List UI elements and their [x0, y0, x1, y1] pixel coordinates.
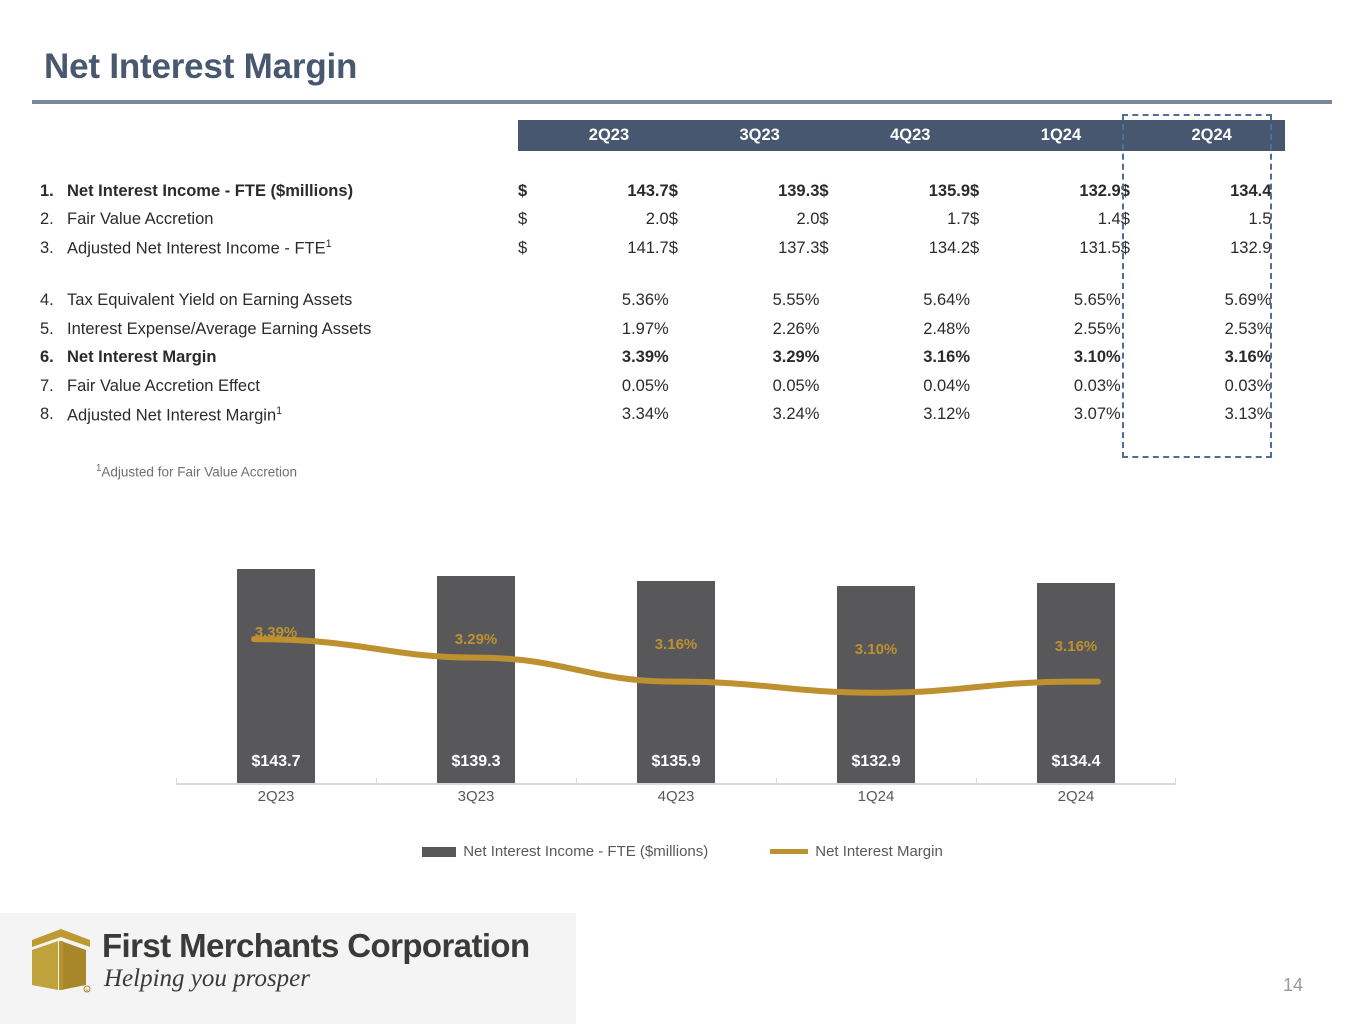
cell-1q24: 0.03%: [1001, 372, 1121, 401]
row-label: Interest Expense/Average Earning Assets: [67, 315, 518, 344]
chart-x-axis: [176, 783, 1176, 785]
cell-2q23: 141.7: [549, 234, 669, 263]
cell-2q23: 143.7: [549, 177, 669, 206]
row-number: 3.: [40, 234, 67, 263]
currency-symbol: $: [1121, 234, 1152, 263]
row-number: 8.: [40, 401, 67, 430]
row-number: 2.: [40, 206, 67, 235]
cell-3q23: 0.05%: [700, 372, 820, 401]
table-row: 6. Net Interest Margin 3.39% 3.29% 3.16%…: [40, 344, 1285, 373]
cell-3q23: 5.55%: [700, 287, 820, 316]
row-number: 5.: [40, 315, 67, 344]
cell-1q24: 5.65%: [1001, 287, 1121, 316]
header-spacer-dollar-2: [669, 120, 700, 151]
x-axis-tick: [976, 778, 977, 785]
company-name: First Merchants Corporation: [102, 929, 530, 964]
cell-1q24: 3.10%: [1001, 344, 1121, 373]
column-header-1q24: 1Q24: [1001, 120, 1121, 151]
cell-4q23: 135.9: [851, 177, 971, 206]
cell-2q23: 3.39%: [549, 344, 669, 373]
bar-percent-label: 3.29%: [437, 631, 515, 648]
table-footnote: 1Adjusted for Fair Value Accretion: [96, 463, 297, 480]
cell-4q23: 5.64%: [851, 287, 971, 316]
x-axis-label: 4Q23: [576, 788, 776, 805]
column-header-4q23: 4Q23: [851, 120, 971, 151]
currency-spacer: [819, 372, 850, 401]
currency-spacer: [819, 401, 850, 430]
cell-3q23: 137.3: [700, 234, 820, 263]
currency-symbol: $: [970, 234, 1001, 263]
financial-table-block: 2Q23 3Q23 4Q23 1Q24 2Q24 1. Net Interest…: [40, 120, 1300, 429]
currency-spacer: [819, 344, 850, 373]
table-row: 2. Fair Value Accretion $ 2.0 $ 2.0 $ 1.…: [40, 206, 1285, 235]
row-tail: [1271, 401, 1285, 430]
company-tagline: Helping you prosper: [104, 966, 530, 991]
currency-spacer: [669, 372, 700, 401]
title-divider: [32, 100, 1332, 104]
table-body: 1. Net Interest Income - FTE ($millions)…: [40, 151, 1285, 429]
header-spacer-num: [40, 120, 67, 151]
page-title: Net Interest Margin: [44, 47, 357, 87]
x-axis-tick: [1175, 778, 1176, 785]
currency-symbol: $: [669, 177, 700, 206]
bar-value-label: $135.9: [637, 753, 715, 771]
legend-item-net-interest-margin[interactable]: Net Interest Margin: [770, 843, 943, 860]
footnote-text: Adjusted for Fair Value Accretion: [101, 465, 297, 480]
bar-percent-label: 3.16%: [1037, 638, 1115, 655]
first-merchants-cube-icon: R: [30, 927, 92, 995]
cell-2q23: 5.36%: [549, 287, 669, 316]
row-number: 4.: [40, 287, 67, 316]
currency-spacer: [970, 315, 1001, 344]
row-tail: [1271, 344, 1285, 373]
row-tail: [1271, 234, 1285, 263]
legend-label: Net Interest Income - FTE ($millions): [463, 843, 708, 860]
currency-symbol: $: [819, 234, 850, 263]
currency-spacer: [819, 315, 850, 344]
cell-2q23: 2.0: [549, 206, 669, 235]
chart-bar: 3.16%$135.9: [637, 581, 715, 785]
cell-3q23: 139.3: [700, 177, 820, 206]
cell-4q23: 2.48%: [851, 315, 971, 344]
cell-1q24: 132.9: [1001, 177, 1121, 206]
column-header-3q23: 3Q23: [700, 120, 820, 151]
currency-symbol: $: [1121, 206, 1152, 235]
row-label: Adjusted Net Interest Income - FTE1: [67, 234, 518, 263]
x-axis-tick: [576, 778, 577, 785]
cell-4q23: 0.04%: [851, 372, 971, 401]
x-axis-tick: [776, 778, 777, 785]
chart-bar: 3.29%$139.3: [437, 576, 515, 785]
currency-symbol: $: [819, 177, 850, 206]
currency-spacer: [1121, 372, 1152, 401]
cell-2q23: 0.05%: [549, 372, 669, 401]
table-header-row: 2Q23 3Q23 4Q23 1Q24 2Q24: [40, 120, 1285, 151]
cell-2q24: 134.4: [1152, 177, 1272, 206]
bar-value-label: $139.3: [437, 753, 515, 771]
x-axis-label: 1Q24: [776, 788, 976, 805]
cell-1q24: 2.55%: [1001, 315, 1121, 344]
cell-4q23: 3.12%: [851, 401, 971, 430]
currency-symbol: $: [970, 206, 1001, 235]
legend-label: Net Interest Margin: [815, 843, 943, 860]
cell-2q23: 1.97%: [549, 315, 669, 344]
row-label: Tax Equivalent Yield on Earning Assets: [67, 287, 518, 316]
currency-spacer: [1121, 315, 1152, 344]
bar-percent-label: 3.39%: [237, 624, 315, 641]
row-tail: [1271, 287, 1285, 316]
table-row: 5. Interest Expense/Average Earning Asse…: [40, 315, 1285, 344]
nim-combo-chart: 3.39%$143.73.29%$139.33.16%$135.93.10%$1…: [176, 545, 1176, 785]
row-tail: [1271, 315, 1285, 344]
currency-symbol: $: [669, 206, 700, 235]
line-swatch-icon: [770, 849, 808, 854]
cell-2q24: 5.69%: [1152, 287, 1272, 316]
column-header-2q23: 2Q23: [549, 120, 669, 151]
cell-3q23: 2.26%: [700, 315, 820, 344]
cell-2q24: 3.16%: [1152, 344, 1272, 373]
bar-value-label: $132.9: [837, 753, 915, 771]
table-row: 1. Net Interest Income - FTE ($millions)…: [40, 177, 1285, 206]
header-spacer-label: [67, 120, 518, 151]
row-label: Net Interest Margin: [67, 344, 518, 373]
row-label: Net Interest Income - FTE ($millions): [67, 177, 518, 206]
currency-symbol: $: [518, 177, 549, 206]
currency-spacer: [970, 287, 1001, 316]
page-number: 14: [1283, 975, 1303, 996]
chart-bar: 3.10%$132.9: [837, 586, 915, 785]
cell-2q23: 3.34%: [549, 401, 669, 430]
table-row: 8. Adjusted Net Interest Margin1 3.34% 3…: [40, 401, 1285, 430]
cell-3q23: 3.29%: [700, 344, 820, 373]
currency-spacer: [970, 401, 1001, 430]
table-row: 3. Adjusted Net Interest Income - FTE1 $…: [40, 234, 1285, 263]
row-label: Adjusted Net Interest Margin1: [67, 401, 518, 430]
currency-spacer: [669, 315, 700, 344]
cell-4q23: 134.2: [851, 234, 971, 263]
bar-percent-label: 3.10%: [837, 641, 915, 658]
header-tail: [1271, 120, 1285, 151]
cell-1q24: 1.4: [1001, 206, 1121, 235]
currency-spacer: [970, 344, 1001, 373]
x-axis-label: 2Q23: [176, 788, 376, 805]
x-axis-tick: [376, 778, 377, 785]
cell-2q24: 1.5: [1152, 206, 1272, 235]
row-tail: [1271, 177, 1285, 206]
currency-spacer: [819, 287, 850, 316]
cell-2q24: 0.03%: [1152, 372, 1272, 401]
currency-symbol: $: [819, 206, 850, 235]
x-axis-label: 3Q23: [376, 788, 576, 805]
row-label: Fair Value Accretion: [67, 206, 518, 235]
row-number: 6.: [40, 344, 67, 373]
cell-1q24: 131.5: [1001, 234, 1121, 263]
currency-symbol: $: [1121, 177, 1152, 206]
currency-symbol: $: [518, 234, 549, 263]
table-row: 4. Tax Equivalent Yield on Earning Asset…: [40, 287, 1285, 316]
currency-spacer: [970, 372, 1001, 401]
header-spacer-dollar-3: [819, 120, 850, 151]
cell-4q23: 3.16%: [851, 344, 971, 373]
row-spacer-mid: [40, 263, 1285, 287]
cell-2q24: 3.13%: [1152, 401, 1272, 430]
cell-2q24: 2.53%: [1152, 315, 1272, 344]
chart-bar: 3.39%$143.7: [237, 569, 315, 785]
x-axis-tick: [176, 778, 177, 785]
currency-spacer: [518, 372, 549, 401]
bar-swatch-icon: [422, 847, 456, 857]
row-number: 1.: [40, 177, 67, 206]
row-spacer-top: [40, 151, 1285, 177]
currency-spacer: [669, 344, 700, 373]
currency-spacer: [1121, 401, 1152, 430]
footnote-marker: 1: [326, 238, 332, 250]
header-spacer-dollar-4: [970, 120, 1001, 151]
bar-percent-label: 3.16%: [637, 636, 715, 653]
currency-spacer: [518, 344, 549, 373]
currency-symbol: $: [669, 234, 700, 263]
currency-spacer: [669, 287, 700, 316]
row-tail: [1271, 206, 1285, 235]
column-header-2q24: 2Q24: [1152, 120, 1272, 151]
currency-spacer: [1121, 344, 1152, 373]
cell-1q24: 3.07%: [1001, 401, 1121, 430]
row-tail: [1271, 372, 1285, 401]
header-spacer-dollar-5: [1121, 120, 1152, 151]
currency-spacer: [518, 401, 549, 430]
cell-3q23: 3.24%: [700, 401, 820, 430]
row-number: 7.: [40, 372, 67, 401]
footnote-marker: 1: [276, 405, 282, 417]
cell-2q24: 132.9: [1152, 234, 1272, 263]
bar-value-label: $134.4: [1037, 753, 1115, 771]
chart-bar: 3.16%$134.4: [1037, 583, 1115, 785]
currency-spacer: [669, 401, 700, 430]
table-row: 7. Fair Value Accretion Effect 0.05% 0.0…: [40, 372, 1285, 401]
company-logo: R First Merchants Corporation Helping yo…: [30, 927, 530, 995]
svg-text:R: R: [86, 988, 89, 993]
currency-symbol: $: [518, 206, 549, 235]
cell-3q23: 2.0: [700, 206, 820, 235]
currency-spacer: [1121, 287, 1152, 316]
currency-spacer: [518, 287, 549, 316]
currency-symbol: $: [970, 177, 1001, 206]
bar-value-label: $143.7: [237, 753, 315, 771]
header-spacer-dollar-1: [518, 120, 549, 151]
cell-4q23: 1.7: [851, 206, 971, 235]
chart-legend: Net Interest Income - FTE ($millions) Ne…: [0, 843, 1365, 860]
legend-item-net-interest-income[interactable]: Net Interest Income - FTE ($millions): [422, 843, 708, 860]
currency-spacer: [518, 315, 549, 344]
net-interest-margin-table: 2Q23 3Q23 4Q23 1Q24 2Q24 1. Net Interest…: [40, 120, 1285, 429]
row-label: Fair Value Accretion Effect: [67, 372, 518, 401]
x-axis-label: 2Q24: [976, 788, 1176, 805]
